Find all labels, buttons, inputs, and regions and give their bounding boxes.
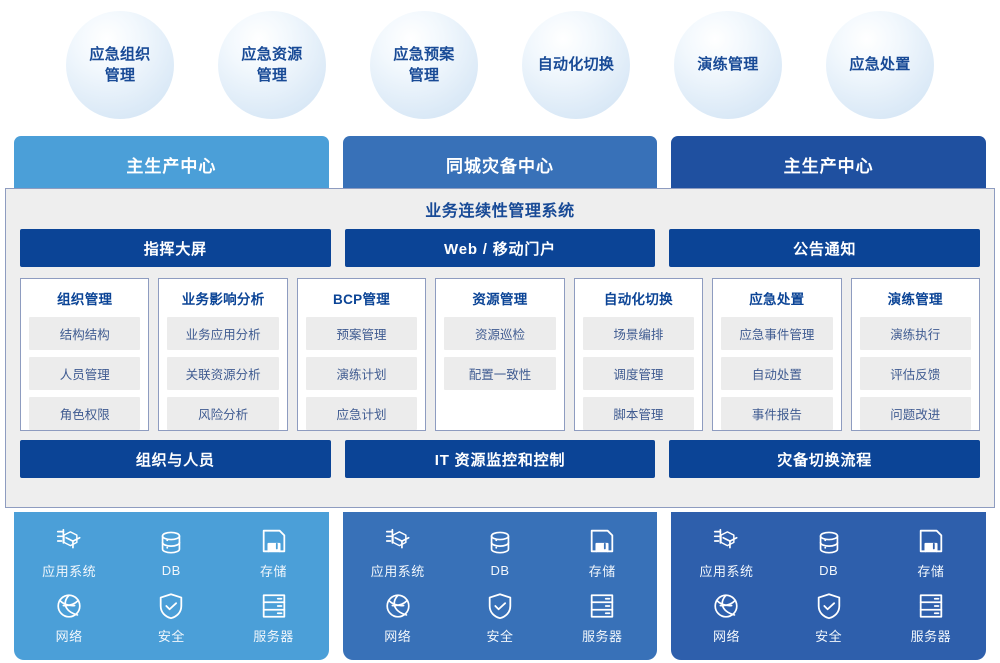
infra-label: 网络 xyxy=(713,626,740,645)
lower-bands-row: 组织与人员 IT 资源监控和控制 灾备切换流程 xyxy=(6,440,994,478)
infra-label: 存储 xyxy=(260,561,287,580)
network-icon xyxy=(711,591,741,621)
data-center-label: 主生产中心 xyxy=(784,152,874,177)
band-dr-switchover-process[interactable]: 灾备切换流程 xyxy=(669,440,980,478)
data-center-headers-row: 主生产中心 同城灾备中心 主生产中心 xyxy=(0,136,1000,192)
infra-label: 应用系统 xyxy=(371,561,425,580)
infra-cell-database[interactable]: DB xyxy=(814,528,844,578)
module-card-emergency-response[interactable]: 应急处置 应急事件管理 自动处置 事件报告 xyxy=(712,278,841,431)
module-item[interactable]: 事件报告 xyxy=(721,397,832,430)
infra-label: 网络 xyxy=(384,626,411,645)
infra-cell-storage[interactable]: 存储 xyxy=(587,526,617,580)
module-card-title: 业务影响分析 xyxy=(167,288,278,308)
band-web-mobile-portal[interactable]: Web / 移动门户 xyxy=(345,229,656,267)
infra-label: 网络 xyxy=(56,626,83,645)
band-label: 指挥大屏 xyxy=(144,238,207,259)
module-item[interactable]: 脚本管理 xyxy=(583,397,694,430)
infra-cell-server[interactable]: 服务器 xyxy=(253,591,294,645)
server-rack-icon xyxy=(587,591,617,621)
infra-cell-application-system[interactable]: 应用系统 xyxy=(42,526,96,580)
application-system-icon xyxy=(383,526,413,556)
module-item[interactable]: 关联资源分析 xyxy=(167,357,278,390)
infra-cell-application-system[interactable]: 应用系统 xyxy=(699,526,753,580)
module-card-bcp-management[interactable]: BCP管理 预案管理 演练计划 应急计划 xyxy=(297,278,426,431)
module-item[interactable]: 场景编排 xyxy=(583,317,694,350)
infra-label: 服务器 xyxy=(253,626,294,645)
data-center-label: 同城灾备中心 xyxy=(446,152,554,177)
module-item[interactable]: 应急计划 xyxy=(306,397,417,430)
module-item[interactable]: 结构结构 xyxy=(29,317,140,350)
infra-cell-security[interactable]: 安全 xyxy=(156,591,186,645)
module-card-automatic-switchover[interactable]: 自动化切换 场景编排 调度管理 脚本管理 xyxy=(574,278,703,431)
data-center-header[interactable]: 主生产中心 xyxy=(14,136,329,192)
infra-cell-security[interactable]: 安全 xyxy=(814,591,844,645)
band-it-resource-monitoring[interactable]: IT 资源监控和控制 xyxy=(345,440,656,478)
database-icon xyxy=(156,528,186,558)
database-icon xyxy=(814,528,844,558)
module-card-resource-management[interactable]: 资源管理 资源巡检 配置一致性 xyxy=(435,278,564,431)
upper-bands-row: 指挥大屏 Web / 移动门户 公告通知 xyxy=(6,229,994,267)
capability-circle[interactable]: 应急处置 xyxy=(826,11,934,119)
storage-icon xyxy=(587,526,617,556)
infra-cell-storage[interactable]: 存储 xyxy=(916,526,946,580)
capability-circles-row: 应急组织 管理 应急资源 管理 应急预案 管理 自动化切换 演练管理 应急处置 xyxy=(0,0,1000,130)
capability-circle[interactable]: 应急组织 管理 xyxy=(66,11,174,119)
infra-label: 服务器 xyxy=(582,626,623,645)
data-center-header[interactable]: 同城灾备中心 xyxy=(343,136,658,192)
database-icon xyxy=(485,528,515,558)
network-icon xyxy=(383,591,413,621)
capability-circle[interactable]: 应急资源 管理 xyxy=(218,11,326,119)
band-label: 公告通知 xyxy=(793,238,856,259)
module-card-business-impact-analysis[interactable]: 业务影响分析 业务应用分析 关联资源分析 风险分析 xyxy=(158,278,287,431)
infra-cell-network[interactable]: 网络 xyxy=(711,591,741,645)
infra-cell-application-system[interactable]: 应用系统 xyxy=(371,526,425,580)
band-announcement-notice[interactable]: 公告通知 xyxy=(669,229,980,267)
capability-circle-label: 演练管理 xyxy=(697,54,758,75)
infrastructure-panel-remote-center: 应用系统 DB 存储 网络 安全 服务器 xyxy=(671,512,986,660)
module-card-title: 组织管理 xyxy=(29,288,140,308)
module-item[interactable]: 人员管理 xyxy=(29,357,140,390)
infra-label: DB xyxy=(490,563,509,578)
capability-circle-label: 应急预案 管理 xyxy=(393,44,454,87)
module-item[interactable]: 自动处置 xyxy=(721,357,832,390)
module-card-title: BCP管理 xyxy=(306,288,417,308)
infra-label: 安全 xyxy=(815,626,842,645)
module-item[interactable]: 业务应用分析 xyxy=(167,317,278,350)
infra-label: DB xyxy=(819,563,838,578)
infra-label: DB xyxy=(162,563,181,578)
infra-cell-storage[interactable]: 存储 xyxy=(259,526,289,580)
storage-icon xyxy=(916,526,946,556)
infra-label: 安全 xyxy=(486,626,513,645)
module-item[interactable]: 演练计划 xyxy=(306,357,417,390)
module-item[interactable]: 问题改进 xyxy=(860,397,971,430)
module-card-org-management[interactable]: 组织管理 结构结构 人员管理 角色权限 xyxy=(20,278,149,431)
infrastructure-panel-metro-dr-center: 应用系统 DB 存储 网络 安全 服务器 xyxy=(343,512,658,660)
infra-cell-database[interactable]: DB xyxy=(156,528,186,578)
system-title: 业务连续性管理系统 xyxy=(6,189,994,229)
security-shield-icon xyxy=(814,591,844,621)
band-label: 组织与人员 xyxy=(136,449,215,470)
module-card-items: 场景编排 调度管理 脚本管理 xyxy=(583,317,694,430)
module-item[interactable]: 评估反馈 xyxy=(860,357,971,390)
capability-circle-label: 应急处置 xyxy=(849,54,910,75)
infra-label: 存储 xyxy=(917,561,944,580)
capability-circle-label: 自动化切换 xyxy=(538,54,615,75)
module-card-items: 业务应用分析 关联资源分析 风险分析 xyxy=(167,317,278,430)
infra-label: 服务器 xyxy=(911,626,952,645)
infra-cell-network[interactable]: 网络 xyxy=(383,591,413,645)
band-label: Web / 移动门户 xyxy=(444,238,556,259)
infra-cell-server[interactable]: 服务器 xyxy=(911,591,952,645)
infra-cell-server[interactable]: 服务器 xyxy=(582,591,623,645)
infrastructure-panel-primary-center: 应用系统 DB 存储 网络 安全 服务器 xyxy=(14,512,329,660)
server-rack-icon xyxy=(916,591,946,621)
band-label: IT 资源监控和控制 xyxy=(435,449,566,470)
architecture-diagram: 应急组织 管理 应急资源 管理 应急预案 管理 自动化切换 演练管理 应急处置 … xyxy=(0,0,1000,663)
module-card-title: 自动化切换 xyxy=(583,288,694,308)
capability-circle[interactable]: 应急预案 管理 xyxy=(370,11,478,119)
module-item[interactable]: 配置一致性 xyxy=(444,357,555,390)
band-command-screen[interactable]: 指挥大屏 xyxy=(20,229,331,267)
infra-label: 存储 xyxy=(589,561,616,580)
band-label: 灾备切换流程 xyxy=(777,449,872,470)
capability-circle[interactable]: 自动化切换 xyxy=(522,11,630,119)
infra-cell-database[interactable]: DB xyxy=(485,528,515,578)
capability-circle-label: 应急资源 管理 xyxy=(241,44,302,87)
data-center-header[interactable]: 主生产中心 xyxy=(671,136,986,192)
storage-icon xyxy=(259,526,289,556)
module-item[interactable]: 预案管理 xyxy=(306,317,417,350)
module-item[interactable]: 资源巡检 xyxy=(444,317,555,350)
module-item[interactable]: 应急事件管理 xyxy=(721,317,832,350)
module-card-items: 应急事件管理 自动处置 事件报告 xyxy=(721,317,832,430)
module-card-items: 结构结构 人员管理 角色权限 xyxy=(29,317,140,430)
security-shield-icon xyxy=(156,591,186,621)
band-organization-and-people[interactable]: 组织与人员 xyxy=(20,440,331,478)
infra-label: 应用系统 xyxy=(699,561,753,580)
module-card-drill-management[interactable]: 演练管理 演练执行 评估反馈 问题改进 xyxy=(851,278,980,431)
module-item[interactable]: 风险分析 xyxy=(167,397,278,430)
module-card-items: 预案管理 演练计划 应急计划 xyxy=(306,317,417,430)
infra-cell-network[interactable]: 网络 xyxy=(54,591,84,645)
module-card-title: 应急处置 xyxy=(721,288,832,308)
module-card-title: 演练管理 xyxy=(860,288,971,308)
infra-label: 安全 xyxy=(158,626,185,645)
infra-label: 应用系统 xyxy=(42,561,96,580)
data-center-label: 主生产中心 xyxy=(126,152,216,177)
module-card-items: 资源巡检 配置一致性 xyxy=(444,317,555,390)
infra-cell-security[interactable]: 安全 xyxy=(485,591,515,645)
capability-circle[interactable]: 演练管理 xyxy=(674,11,782,119)
application-system-icon xyxy=(54,526,84,556)
capability-circle-label: 应急组织 管理 xyxy=(89,44,150,87)
module-cards-row: 组织管理 结构结构 人员管理 角色权限 业务影响分析 业务应用分析 关联资源分析… xyxy=(6,267,994,431)
server-rack-icon xyxy=(259,591,289,621)
application-system-icon xyxy=(711,526,741,556)
security-shield-icon xyxy=(485,591,515,621)
module-item[interactable]: 调度管理 xyxy=(583,357,694,390)
network-icon xyxy=(54,591,84,621)
module-item[interactable]: 角色权限 xyxy=(29,397,140,430)
module-card-items: 演练执行 评估反馈 问题改进 xyxy=(860,317,971,430)
bcm-system-container: 业务连续性管理系统 指挥大屏 Web / 移动门户 公告通知 组织管理 结构结构… xyxy=(5,188,995,508)
module-card-title: 资源管理 xyxy=(444,288,555,308)
module-item[interactable]: 演练执行 xyxy=(860,317,971,350)
infrastructure-panels-row: 应用系统 DB 存储 网络 安全 服务器 xyxy=(0,512,1000,660)
